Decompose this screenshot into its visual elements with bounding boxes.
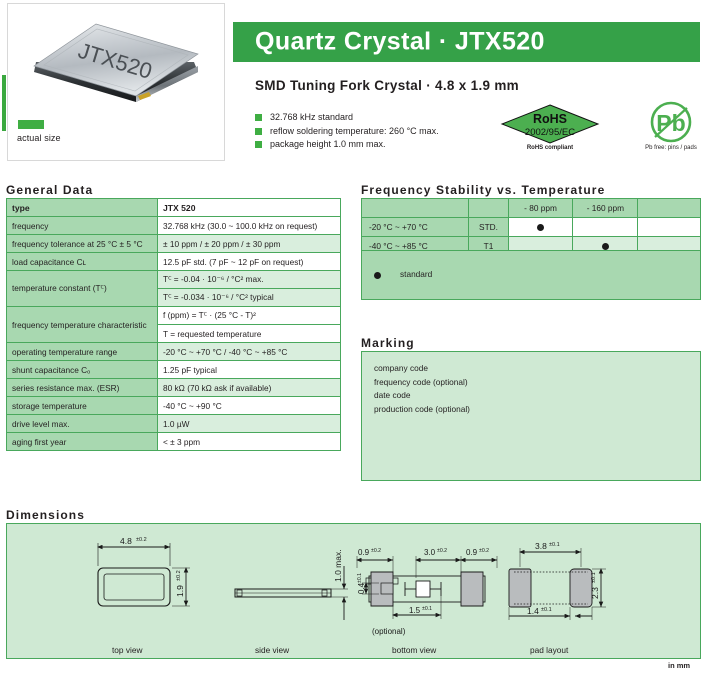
pad-height-value: 2.3 [590,587,600,599]
top-view-height-value: 1.9 [175,585,185,597]
bottom-optional-note: (optional) [372,627,406,636]
top-view-height-tol: ±0.2 [176,570,182,581]
top-view-width-value: 4.8 [120,536,132,546]
pad-pitch-tol: ±0.1 [549,542,560,548]
bottom-left-pad-tol: ±0.2 [371,548,381,554]
view-caption-side: side view [255,645,289,655]
bottom-pad-height-value: 0.4 [357,582,366,594]
unit-note: in mm [668,661,690,670]
bottom-right-pad-tol: ±0.2 [479,548,489,554]
top-view-width-tol: ±0.2 [136,537,147,543]
bottom-left-pad-value: 0.9 [358,548,370,557]
bottom-middle-value: 3.0 [424,548,436,557]
bottom-right-pad-value: 0.9 [466,548,478,557]
pad-pitch-value: 3.8 [535,541,547,551]
pad-width-tol: ±0.1 [541,607,552,613]
side-view-height-value: 1.0 max. [333,549,343,582]
bottom-inner-value: 1.5 [409,606,421,615]
view-caption-pad-layout: pad layout [530,645,568,655]
dimension-drawings: 4.8 ±0.2 1.9 ±0.2 1.0 max. 0.9 ±0.2 3.0 … [0,0,707,673]
bottom-middle-tol: ±0.2 [437,548,447,554]
view-caption-bottom: bottom view [392,645,436,655]
bottom-pad-height-tol: ±0.1 [357,573,363,583]
pad-height-tol: ±0.1 [591,572,597,583]
bottom-inner-tol: ±0.1 [422,606,432,612]
pad-width-value: 1.4 [527,606,539,616]
view-caption-top: top view [112,645,142,655]
